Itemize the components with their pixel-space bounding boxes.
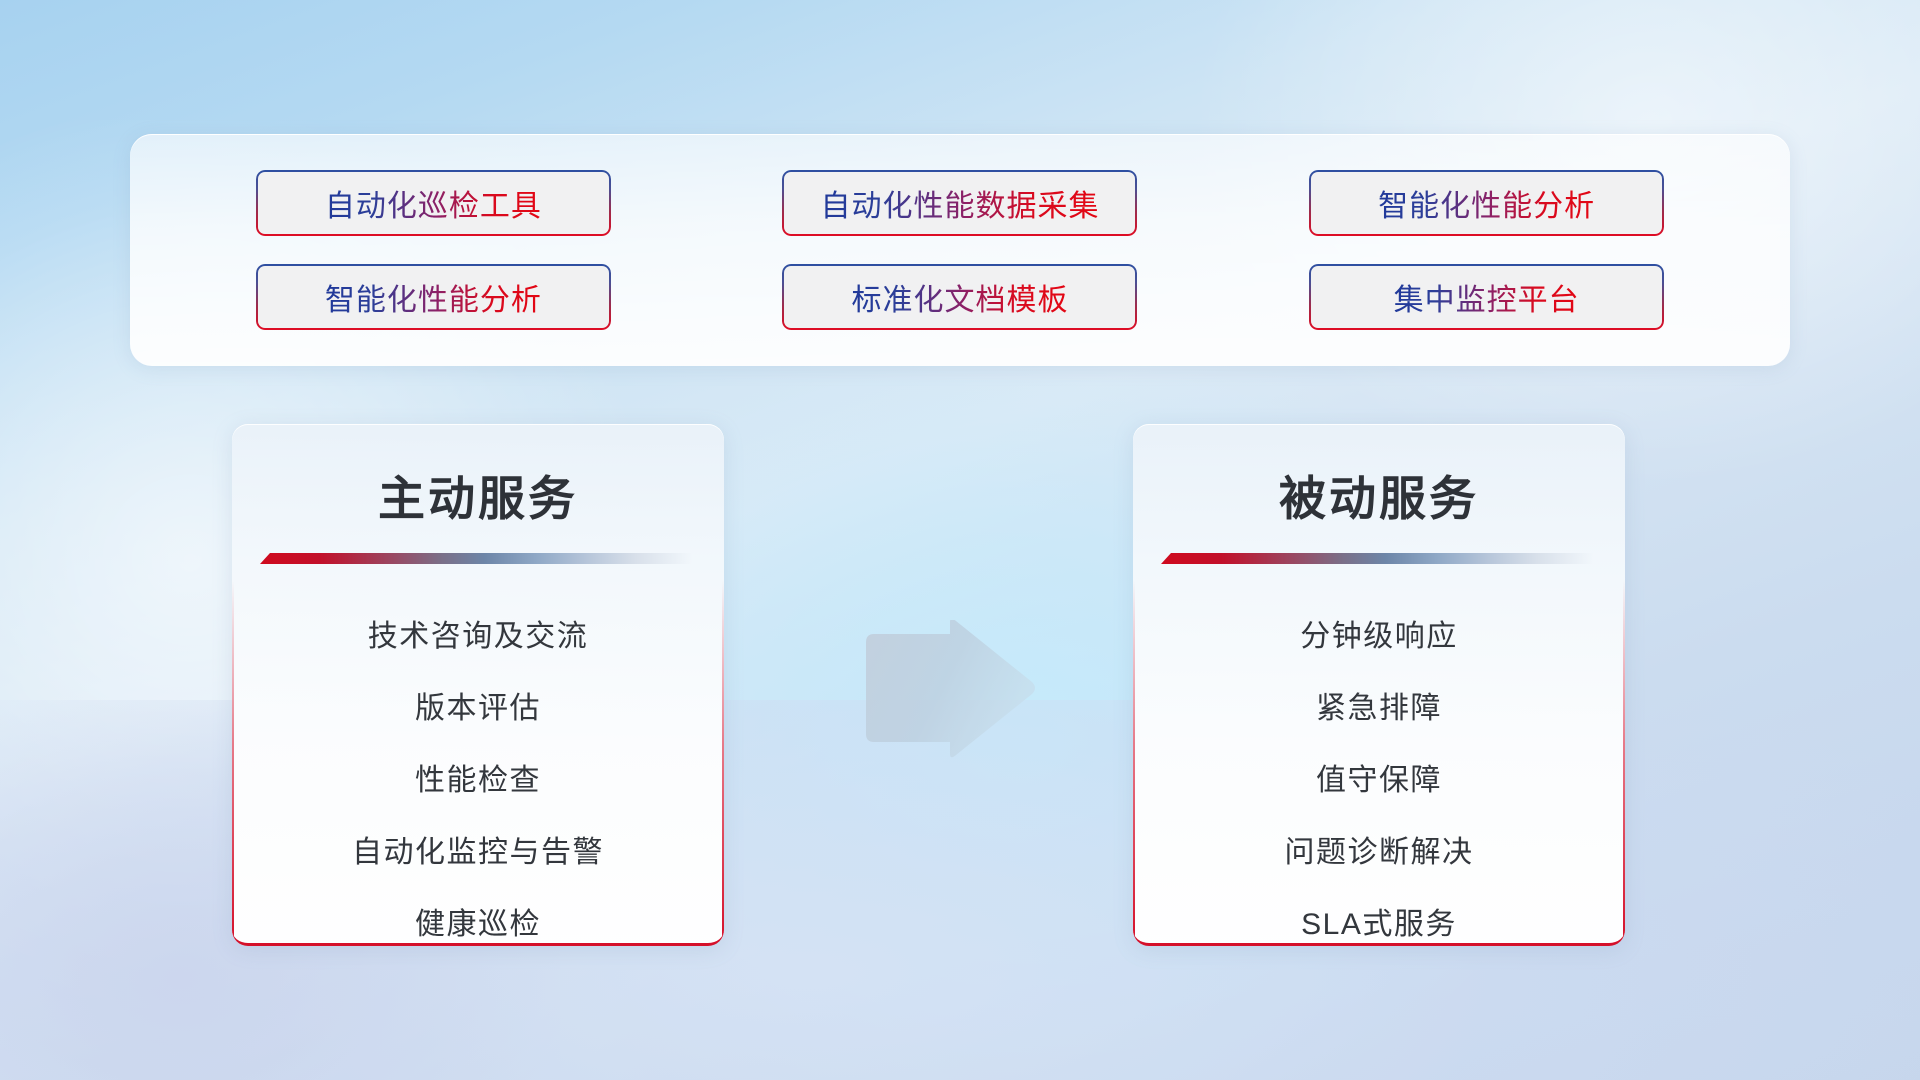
list-item: 紧急排障 (1316, 683, 1442, 727)
list-item: SLA式服务 (1301, 899, 1457, 943)
list-item: 问题诊断解决 (1285, 827, 1474, 871)
capability-tag-automated-inspection-tool[interactable]: 自动化巡检工具 (256, 170, 611, 236)
capability-tag-intelligent-performance-analysis-1[interactable]: 智能化性能分析 (1309, 170, 1664, 236)
capability-tag-label: 自动化巡检工具 (325, 181, 542, 225)
card-title-active: 主动服务 (232, 460, 724, 529)
list-item: 自动化监控与告警 (352, 827, 604, 871)
card-divider-wedge (260, 553, 692, 564)
card-divider-passive (1161, 553, 1593, 565)
arrow-right-icon (862, 620, 1037, 760)
list-item: 版本评估 (415, 683, 541, 727)
service-card-passive[interactable]: 被动服务 分钟级响应 紧急排障 值守保障 问题诊断解决 SLA式服务 (1133, 424, 1625, 946)
card-divider-active (260, 553, 692, 565)
capability-tag-automated-performance-data-collection[interactable]: 自动化性能数据采集 (782, 170, 1137, 236)
list-item: 性能检查 (415, 755, 541, 799)
card-list-active: 技术咨询及交流 版本评估 性能检查 自动化监控与告警 健康巡检 (232, 611, 724, 943)
card-list-passive: 分钟级响应 紧急排障 值守保障 问题诊断解决 SLA式服务 (1133, 611, 1625, 943)
capability-tag-label: 标准化文档模板 (851, 275, 1068, 319)
service-card-active[interactable]: 主动服务 技术咨询及交流 版本评估 性能检查 自动化监控与告警 健康巡检 (232, 424, 724, 946)
capability-panel: 自动化巡检工具 自动化性能数据采集 智能化性能分析 智能化性能分析 标准化文档模… (130, 134, 1790, 366)
capability-tag-label: 智能化性能分析 (1378, 181, 1595, 225)
capability-tag-label: 自动化性能数据采集 (820, 181, 1099, 225)
list-item: 健康巡检 (415, 899, 541, 943)
card-divider-wedge (1161, 553, 1593, 564)
list-item: 值守保障 (1316, 755, 1442, 799)
card-title-passive: 被动服务 (1133, 460, 1625, 529)
list-item: 技术咨询及交流 (368, 611, 589, 655)
capability-tag-intelligent-performance-analysis-2[interactable]: 智能化性能分析 (256, 264, 611, 330)
capability-tag-standardized-document-template[interactable]: 标准化文档模板 (782, 264, 1137, 330)
capability-tag-label: 智能化性能分析 (325, 275, 542, 319)
capability-tag-centralized-monitoring-platform[interactable]: 集中监控平台 (1309, 264, 1664, 330)
capability-tag-label: 集中监控平台 (1394, 275, 1580, 319)
list-item: 分钟级响应 (1300, 611, 1458, 655)
